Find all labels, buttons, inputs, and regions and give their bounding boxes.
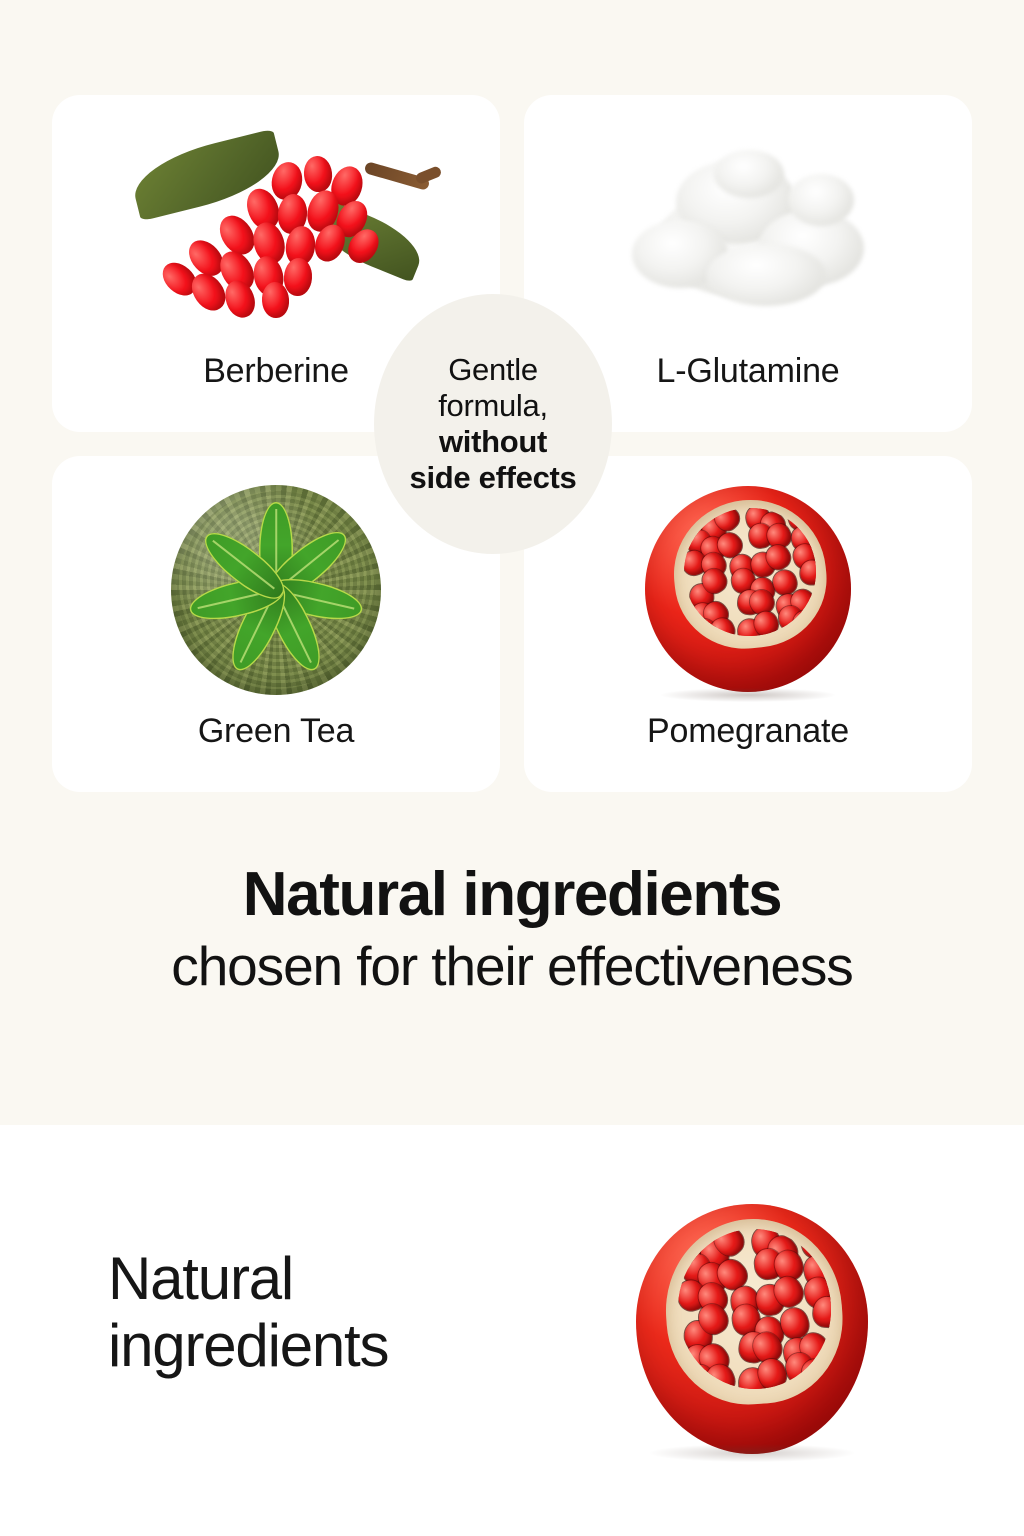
badge-line-1: Gentle xyxy=(448,352,538,387)
bottom-section-title: Natural ingredients xyxy=(108,1245,508,1379)
ingredient-card-label: Pomegranate xyxy=(647,714,849,792)
promo-page: Berberine L-Glutamine xyxy=(0,0,1024,1536)
powder-blob xyxy=(706,244,826,306)
powder-art xyxy=(618,148,878,318)
stem-shape xyxy=(364,161,431,191)
berberine-art xyxy=(126,140,426,320)
headline-secondary: chosen for their effectiveness xyxy=(0,935,1024,998)
badge-text: Gentle formula, without side effects xyxy=(404,352,583,496)
powder-blob xyxy=(714,150,784,198)
ingredient-card-pomegranate[interactable]: Pomegranate xyxy=(524,456,972,793)
powder-blob xyxy=(788,174,854,226)
bottom-pomegranate-image xyxy=(636,1204,868,1454)
badge-line-2: formula, xyxy=(438,388,548,423)
pomegranate-art xyxy=(645,486,851,692)
ingredient-card-label: Berberine xyxy=(203,354,349,432)
badge-line-4: side effects xyxy=(410,460,577,495)
aril-cluster xyxy=(678,502,822,643)
headline-primary: Natural ingredients xyxy=(0,862,1024,929)
green-tea-art xyxy=(171,485,381,695)
badge-line-3: without xyxy=(439,424,547,459)
drop-shadow xyxy=(650,1444,854,1462)
ingredient-card-label: L-Glutamine xyxy=(657,354,840,432)
l-glutamine-powder-icon xyxy=(524,95,972,354)
drop-shadow xyxy=(661,688,834,702)
aril-cluster xyxy=(672,1224,836,1394)
headline-block: Natural ingredients chosen for their eff… xyxy=(0,862,1024,998)
gentle-formula-badge: Gentle formula, without side effects xyxy=(374,294,612,554)
ingredient-card-label: Green Tea xyxy=(198,714,354,792)
berry xyxy=(220,277,259,322)
berry xyxy=(302,155,334,194)
